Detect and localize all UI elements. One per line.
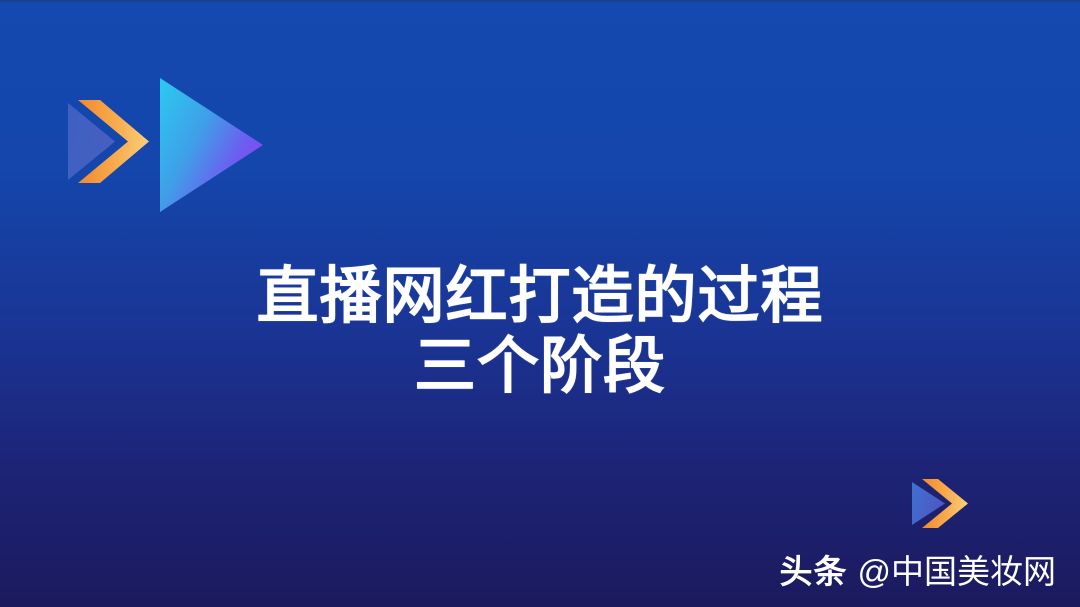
arrow-mark-bottom-svg [900, 470, 980, 532]
slide-canvas: 直播网红打造的过程 三个阶段 头条 @中国美妆 [0, 0, 1080, 607]
large-play-triangle [160, 78, 263, 212]
title-line-2: 三个阶段 [0, 332, 1080, 402]
title-line-1: 直播网红打造的过程 [0, 262, 1080, 332]
watermark: 头条 @中国美妆网 [780, 545, 1057, 593]
slide-title-block: 直播网红打造的过程 三个阶段 [0, 262, 1080, 402]
top-edge-hairline [0, 0, 1080, 2]
watermark-handle: @中国美妆网 [858, 545, 1057, 593]
decorative-arrow-mark-top [55, 70, 280, 220]
decorative-arrow-mark-bottom [900, 470, 980, 532]
arrow-mark-top-svg [55, 70, 280, 220]
watermark-brand: 头条 [780, 545, 848, 593]
